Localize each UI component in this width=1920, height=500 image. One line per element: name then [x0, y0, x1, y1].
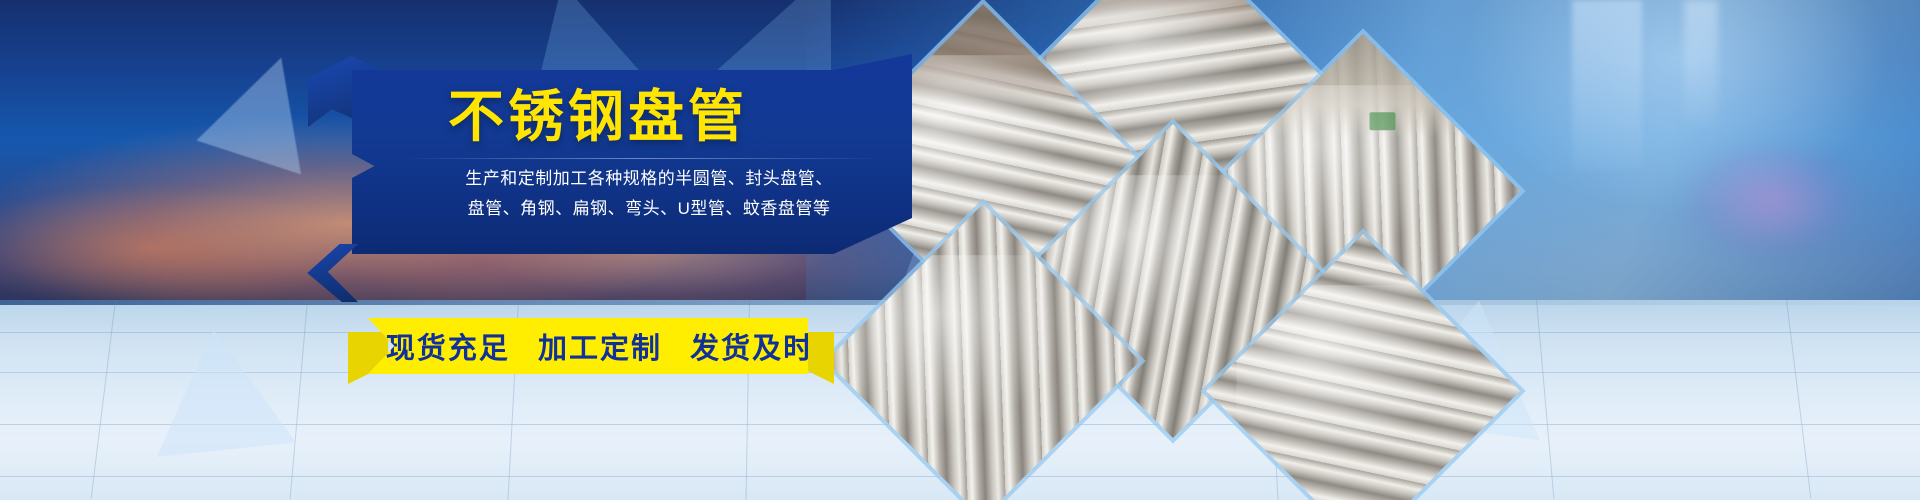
background-tower-2	[1684, 0, 1718, 130]
page-title: 不锈钢盘管	[448, 72, 748, 153]
slogan-item-1: 现货充足	[386, 333, 510, 365]
background-tower-1	[1572, 0, 1642, 170]
slogan-ribbon: 现货充足 加工定制 发货及时	[368, 318, 808, 374]
subtitle-line-1: 生产和定制加工各种规格的半圆管、封头盘管、	[404, 164, 894, 194]
background-glow	[1682, 140, 1862, 260]
subtitle-text: 生产和定制加工各种规格的半圆管、封头盘管、 盘管、角钢、扁钢、弯头、U型管、蚊香…	[404, 164, 894, 224]
decorative-triangle-5	[144, 323, 296, 457]
slogan-item-3: 发货及时	[690, 333, 814, 365]
slogan-text: 现货充足 加工定制 发货及时	[353, 325, 823, 367]
panel-divider	[398, 158, 886, 159]
product-hero-banner: 不锈钢盘管 生产和定制加工各种规格的半圆管、封头盘管、 盘管、角钢、扁钢、弯头、…	[0, 0, 1920, 500]
panel-body: 不锈钢盘管 生产和定制加工各种规格的半圆管、封头盘管、 盘管、角钢、扁钢、弯头、…	[352, 54, 912, 254]
product-photo-collage	[838, 0, 1468, 500]
subtitle-line-2: 盘管、角钢、扁钢、弯头、U型管、蚊香盘管等	[404, 194, 894, 224]
headline-panel: 不锈钢盘管 生产和定制加工各种规格的半圆管、封头盘管、 盘管、角钢、扁钢、弯头、…	[352, 54, 912, 254]
slogan-item-2: 加工定制	[538, 333, 662, 365]
